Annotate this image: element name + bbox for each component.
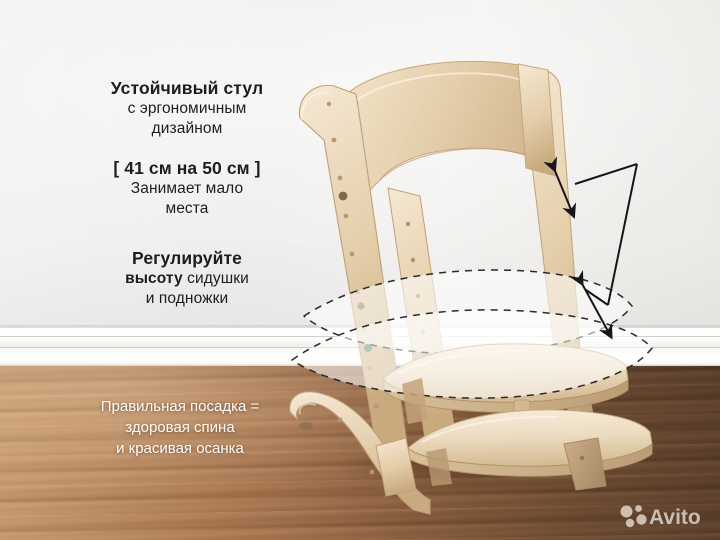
avito-watermark: Avito (618, 503, 710, 529)
posture-caption-line1: Правильная посадка = (60, 396, 300, 417)
connector-spine (608, 164, 637, 305)
adjust-height-heading: Регулируйте (78, 248, 296, 269)
posture-caption-line3: и красивая осанка (60, 438, 300, 459)
stable-chair-heading: Устойчивый стул (78, 78, 296, 99)
chair-rear-foot (564, 438, 606, 490)
arrow-seat-height (553, 166, 572, 212)
connector-upper (575, 164, 637, 184)
adjustment-arrows (520, 150, 670, 350)
product-image-canvas: Устойчивый стул с эргономичным дизайном … (0, 0, 720, 540)
stable-chair-line2: с эргономичным (78, 99, 296, 119)
posture-caption: Правильная посадка = здоровая спина и кр… (60, 396, 300, 459)
dimensions-line3: места (78, 199, 296, 219)
text-block-dimensions: [ 41 см на 50 см ] Занимает мало места (78, 158, 296, 219)
text-block-stable-chair: Устойчивый стул с эргономичным дизайном (78, 78, 296, 139)
adjust-height-line3: и подножки (78, 289, 296, 309)
arrow-footrest-height (580, 280, 609, 333)
dimensions-heading: [ 41 см на 50 см ] (78, 158, 296, 179)
stable-chair-line3: дизайном (78, 119, 296, 139)
dimensions-line2: Занимает мало (78, 179, 296, 199)
posture-caption-line2: здоровая спина (60, 417, 300, 438)
adjust-height-line2-rest: сидушки (183, 270, 249, 287)
adjust-height-line2: высоту сидушки (78, 269, 296, 289)
adjust-height-line2-bold: высоту (125, 270, 183, 287)
avito-logo-mark (621, 505, 647, 527)
avito-logo-text: Avito (649, 506, 701, 529)
text-block-adjust-height: Регулируйте высоту сидушки и подножки (78, 248, 296, 309)
